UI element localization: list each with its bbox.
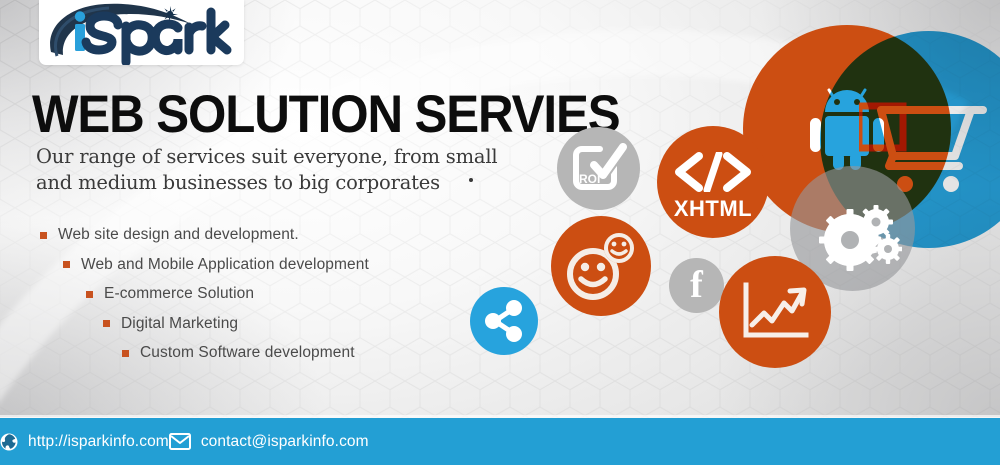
envelope-icon [169, 433, 191, 450]
gears-icon [810, 197, 902, 275]
smiley-faces-icon [563, 230, 639, 302]
footer-email[interactable]: contact@isparkinfo.com [169, 433, 369, 451]
roi-label: ROI [579, 172, 600, 186]
code-brackets-icon [673, 152, 753, 192]
circle-roi[interactable]: ROI [557, 127, 640, 210]
xhtml-label: XHTML [674, 196, 752, 222]
footer-bar: http://isparkinfo.com contact@isparkinfo… [0, 418, 1000, 465]
footer-website-label: http://isparkinfo.com [28, 433, 169, 451]
footer-email-label: contact@isparkinfo.com [201, 433, 369, 451]
footer-website[interactable]: http://isparkinfo.com [0, 433, 169, 451]
roi-checkmark-icon [570, 143, 628, 195]
icon-cluster: XHTML ROI [0, 0, 1000, 418]
circle-growth-chart[interactable] [719, 256, 831, 368]
circle-facebook[interactable]: f [669, 258, 724, 313]
globe-icon [0, 433, 18, 451]
banner: WEB SOLUTION SERVIES Our range of servic… [0, 0, 1000, 465]
growth-chart-icon [740, 281, 810, 343]
circle-smiley[interactable] [551, 216, 651, 316]
facebook-icon: f [690, 266, 703, 304]
share-nodes-icon [483, 300, 525, 342]
circle-xhtml[interactable]: XHTML [657, 126, 769, 238]
circle-share[interactable] [470, 287, 538, 355]
